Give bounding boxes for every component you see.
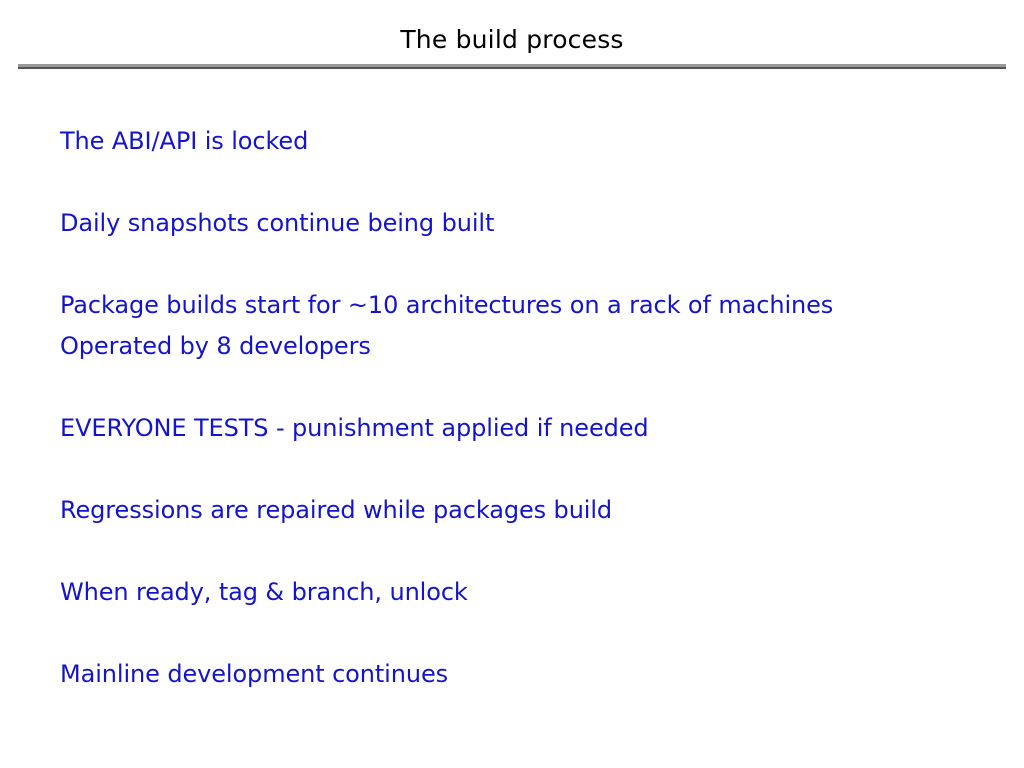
bullet-block: When ready, tag & branch, unlock bbox=[60, 572, 990, 613]
bullet-block: Regressions are repaired while packages … bbox=[60, 490, 990, 531]
bullet-line: Package builds start for ~10 architectur… bbox=[60, 285, 990, 326]
page-title: The build process bbox=[0, 24, 1024, 56]
bullet-line: Mainline development continues bbox=[60, 654, 990, 695]
slide: The build process The ABI/API is lockedD… bbox=[0, 0, 1024, 768]
bullet-block: Package builds start for ~10 architectur… bbox=[60, 285, 990, 367]
bullet-block: EVERYONE TESTS - punishment applied if n… bbox=[60, 408, 990, 449]
bullet-line: Regressions are repaired while packages … bbox=[60, 490, 990, 531]
bullet-line: The ABI/API is locked bbox=[60, 121, 990, 162]
bullet-line: Daily snapshots continue being built bbox=[60, 203, 990, 244]
bullet-block: Mainline development continues bbox=[60, 654, 990, 695]
bullet-block: Daily snapshots continue being built bbox=[60, 203, 990, 244]
slide-body: The ABI/API is lockedDaily snapshots con… bbox=[60, 121, 990, 695]
divider-shadow bbox=[18, 67, 1006, 69]
bullet-line: When ready, tag & branch, unlock bbox=[60, 572, 990, 613]
bullet-line: EVERYONE TESTS - punishment applied if n… bbox=[60, 408, 990, 449]
bullet-line: Operated by 8 developers bbox=[60, 326, 990, 367]
bullet-block: The ABI/API is locked bbox=[60, 121, 990, 162]
title-divider bbox=[18, 64, 1006, 69]
